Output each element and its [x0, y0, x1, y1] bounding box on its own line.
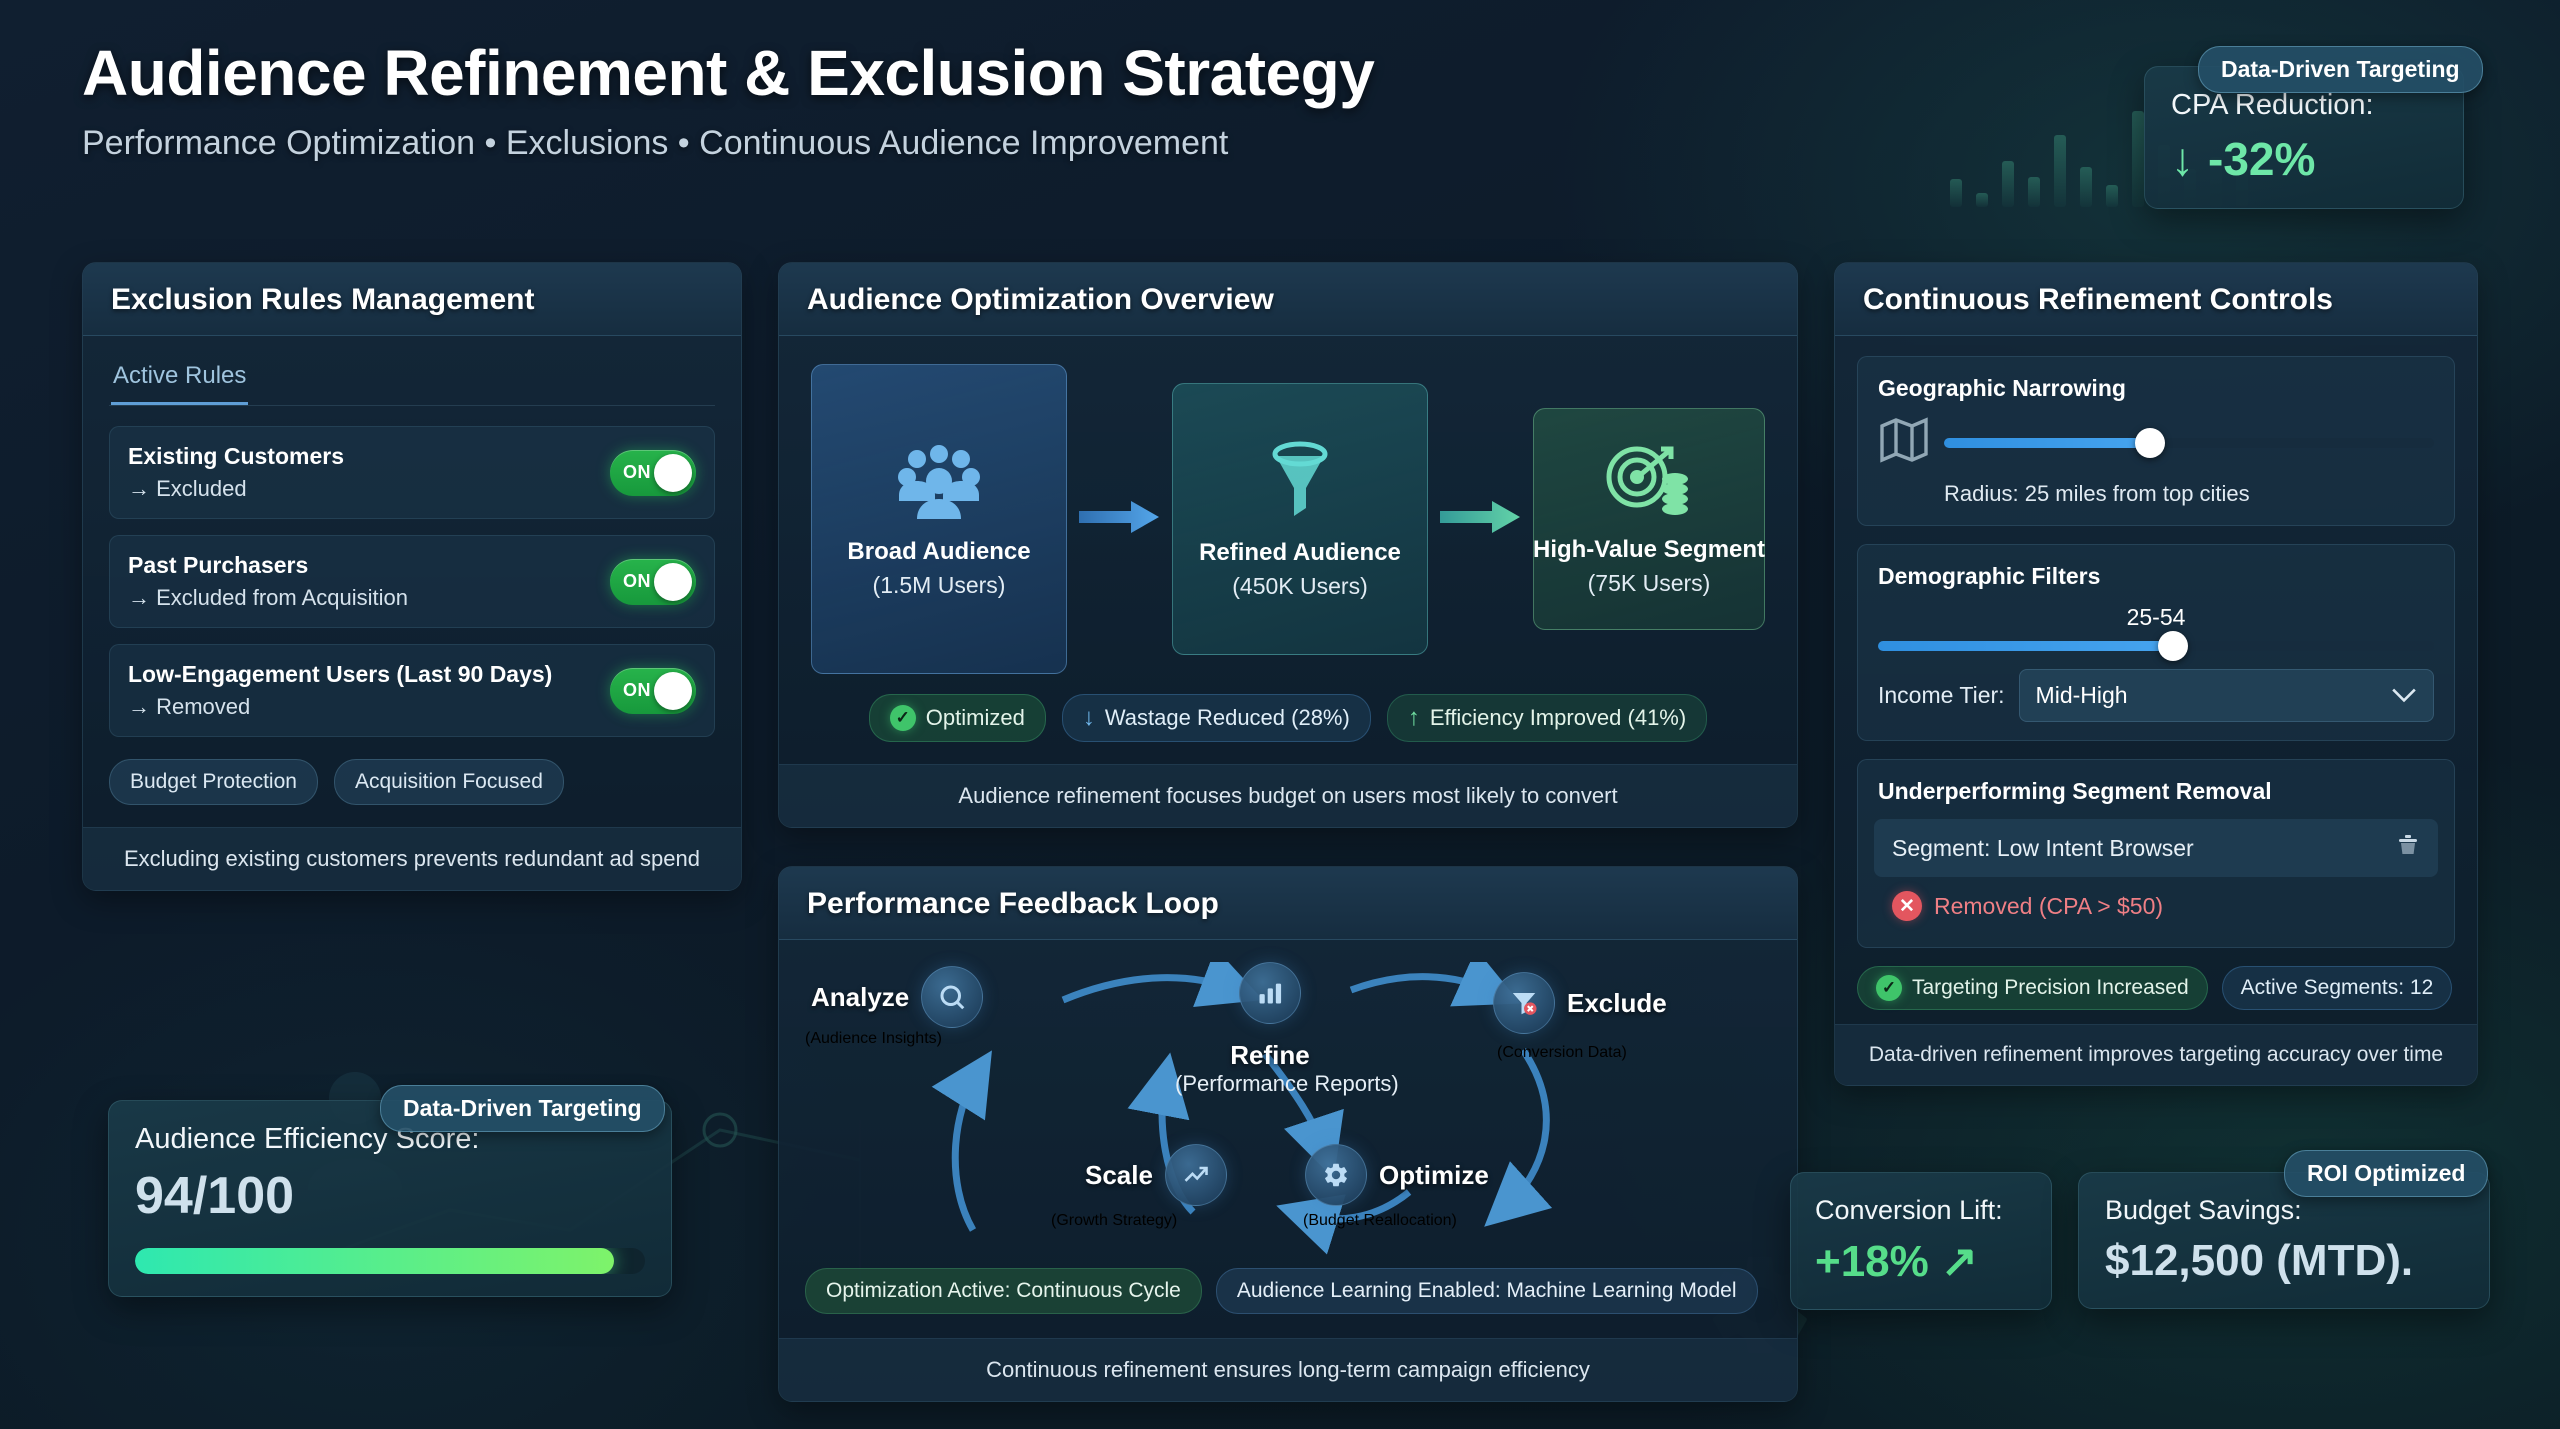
flow-stage-broad-audience[interactable]: Broad Audience (1.5M Users) — [811, 364, 1067, 674]
demographic-slider[interactable] — [1878, 641, 2434, 651]
chip-targeting-precision[interactable]: ✓ Targeting Precision Increased — [1857, 966, 2208, 1010]
audience-optimization-panel: Audience Optimization Overview — [778, 262, 1798, 828]
progress-fill — [135, 1248, 614, 1274]
controls-chip-row: ✓ Targeting Precision Increased Active S… — [1857, 966, 2455, 1010]
geographic-title: Geographic Narrowing — [1878, 375, 2434, 402]
tab-active-rules[interactable]: Active Rules — [111, 358, 248, 405]
page-title: Audience Refinement & Exclusion Strategy — [82, 36, 1374, 110]
geographic-narrowing-card: Geographic Narrowing Radius: 25 miles fr… — [1857, 356, 2455, 526]
rule-name: Low-Engagement Users (Last 90 Days) — [128, 661, 552, 688]
stat-chip-label: Optimized — [926, 705, 1025, 731]
chip-budget-protection[interactable]: Budget Protection — [109, 759, 318, 805]
arrow-up-icon: ↑ — [1408, 704, 1420, 732]
rule-row[interactable]: Low-Engagement Users (Last 90 Days) → Re… — [109, 644, 715, 737]
demographic-title: Demographic Filters — [1878, 563, 2434, 590]
segment-row[interactable]: Segment: Low Intent Browser — [1874, 819, 2438, 877]
exclusion-panel-header: Exclusion Rules Management — [83, 263, 741, 336]
trend-up-icon — [1165, 1144, 1227, 1206]
geographic-radius-label: Radius: 25 miles from top cities — [1944, 481, 2434, 507]
segment-label: Segment: Low Intent Browser — [1892, 835, 2194, 862]
rule-toggle-label: ON — [623, 680, 651, 701]
controls-panel-header: Continuous Refinement Controls — [1835, 263, 2477, 336]
stat-chip-label: Efficiency Improved (41%) — [1430, 705, 1686, 731]
toggle-knob — [654, 672, 692, 710]
node-sub: (Audience Insights) — [805, 1030, 942, 1048]
rule-toggle[interactable]: ON — [610, 450, 696, 496]
conversion-lift-value: +18% ↗ — [1815, 1236, 2027, 1287]
flow-stage-high-value-segment[interactable]: High-Value Segment (75K Users) — [1533, 408, 1765, 630]
stage-name: Refined Audience — [1199, 539, 1401, 567]
stage-count: (75K Users) — [1588, 570, 1711, 597]
flow-arrow-1-icon — [1073, 497, 1167, 542]
stat-chip-optimized[interactable]: ✓ Optimized — [869, 694, 1046, 742]
node-name: Scale — [1085, 1160, 1153, 1191]
page-subtitle: Performance Optimization • Exclusions • … — [82, 124, 1374, 163]
target-coins-icon — [1603, 443, 1695, 522]
loop-chip-row: Optimization Active: Continuous Cycle Au… — [805, 1264, 1771, 1316]
rule-row[interactable]: Existing Customers → Excluded ON — [109, 426, 715, 519]
audience-flow-diagram: Broad Audience (1.5M Users) — [805, 358, 1771, 684]
cpa-reduction-value: -32% — [2208, 132, 2315, 186]
flow-stage-refined-audience[interactable]: Refined Audience (450K Users) — [1172, 383, 1428, 655]
map-icon — [1878, 416, 1930, 469]
rule-toggle-label: ON — [623, 462, 651, 483]
income-tier-value: Mid-High — [2036, 682, 2128, 709]
stage-name: High-Value Segment — [1533, 536, 1765, 564]
page-header: Audience Refinement & Exclusion Strategy… — [82, 36, 1374, 163]
rule-name: Existing Customers — [128, 443, 344, 470]
loop-node-refine[interactable] — [1239, 962, 1301, 1024]
income-tier-select[interactable]: Mid-High — [2019, 669, 2434, 722]
toggle-knob — [654, 454, 692, 492]
loop-node-optimize[interactable]: Optimize — [1305, 1144, 1489, 1206]
performance-feedback-loop-panel: Performance Feedback Loop — [778, 866, 1798, 1402]
stage-count: (1.5M Users) — [873, 572, 1006, 599]
feedback-loop-diagram: Analyze (Audience Insights) — [805, 962, 1771, 1264]
efficiency-value: 94/100 — [135, 1166, 645, 1226]
x-circle-icon: ✕ — [1892, 891, 1922, 921]
node-sub: (Growth Strategy) — [1051, 1212, 1177, 1230]
trash-icon[interactable] — [2396, 833, 2420, 863]
rule-status: → Removed — [128, 694, 552, 720]
demographic-age-value: 25-54 — [1878, 604, 2434, 631]
segment-removed-label: Removed (CPA > $50) — [1934, 893, 2163, 920]
chip-optimization-active[interactable]: Optimization Active: Continuous Cycle — [805, 1268, 1202, 1314]
slider-knob[interactable] — [2158, 631, 2188, 661]
chip-audience-learning[interactable]: Audience Learning Enabled: Machine Learn… — [1216, 1268, 1758, 1314]
people-group-icon — [891, 441, 987, 524]
funnel-icon — [1263, 440, 1337, 525]
loop-node-scale[interactable]: Scale — [1085, 1144, 1227, 1206]
efficiency-progress-bar — [135, 1248, 645, 1274]
cpa-pill-badge: Data-Driven Targeting — [2198, 46, 2483, 93]
exclusion-tabbar: Active Rules — [109, 358, 715, 406]
loop-node-refine-label: Refine (Performance Reports) — [1175, 1040, 1365, 1097]
arrow-down-icon: ↓ — [2171, 132, 2194, 186]
rule-name: Past Purchasers — [128, 552, 408, 579]
refinement-controls-panel: Continuous Refinement Controls Geographi… — [1834, 262, 2478, 1086]
chevron-down-icon — [2391, 682, 2417, 709]
chip-active-segments[interactable]: Active Segments: 12 — [2222, 966, 2453, 1010]
slider-fill — [1878, 641, 2173, 651]
check-circle-icon: ✓ — [1876, 975, 1902, 1001]
rule-status: → Excluded — [128, 476, 344, 502]
segment-removal-card: Underperforming Segment Removal Segment:… — [1857, 759, 2455, 948]
funnel-x-icon — [1493, 972, 1555, 1034]
geographic-slider[interactable] — [1944, 438, 2434, 448]
segment-removal-title: Underperforming Segment Removal — [1874, 778, 2438, 805]
budget-savings-label: Budget Savings: — [2105, 1195, 2463, 1226]
flow-arrow-2-icon — [1434, 497, 1528, 542]
rule-toggle[interactable]: ON — [610, 559, 696, 605]
overview-stat-chip-row: ✓ Optimized ↓ Wastage Reduced (28%) ↑ Ef… — [805, 694, 1771, 742]
node-name: Refine — [1175, 1040, 1365, 1071]
gear-icon — [1305, 1144, 1367, 1206]
segment-removed-status: ✕ Removed (CPA > $50) — [1874, 877, 2438, 935]
loop-panel-footer: Continuous refinement ensures long-term … — [779, 1338, 1797, 1401]
check-circle-icon: ✓ — [890, 705, 916, 731]
toggle-knob — [654, 563, 692, 601]
exclusion-panel-body: Active Rules Existing Customers → Exclud… — [83, 336, 741, 827]
loop-panel-body: Analyze (Audience Insights) — [779, 940, 1797, 1338]
overview-panel-title: Audience Optimization Overview — [807, 283, 1769, 317]
loop-node-analyze[interactable]: Analyze — [811, 966, 983, 1028]
node-name: Exclude — [1567, 988, 1667, 1019]
node-sub: (Performance Reports) — [1175, 1071, 1365, 1097]
conversion-lift-label: Conversion Lift: — [1815, 1195, 2027, 1226]
conversion-lift-card: Conversion Lift: +18% ↗ — [1790, 1172, 2052, 1310]
controls-panel-body: Geographic Narrowing Radius: 25 miles fr… — [1835, 336, 2477, 1024]
search-icon — [921, 966, 983, 1028]
efficiency-pill-badge: Data-Driven Targeting — [380, 1085, 665, 1132]
stat-chip-efficiency-improved[interactable]: ↑ Efficiency Improved (41%) — [1387, 694, 1707, 742]
node-sub: (Conversion Data) — [1497, 1044, 1627, 1062]
chip-label: Active Segments: 12 — [2241, 976, 2434, 1000]
rule-status: → Excluded from Acquisition — [128, 585, 408, 611]
rule-row[interactable]: Past Purchasers → Excluded from Acquisit… — [109, 535, 715, 628]
dashboard-root: Audience Refinement & Exclusion Strategy… — [0, 0, 2560, 1429]
budget-savings-value: $12,500 (MTD). — [2105, 1236, 2463, 1286]
cpa-reduction-label: CPA Reduction: — [2171, 89, 2437, 122]
stage-name: Broad Audience — [847, 538, 1030, 566]
exclusion-panel-footer: Excluding existing customers prevents re… — [83, 827, 741, 890]
demographic-filters-card: Demographic Filters 25-54 Income Tier: M… — [1857, 544, 2455, 741]
rule-toggle-label: ON — [623, 571, 651, 592]
exclusion-panel-title: Exclusion Rules Management — [111, 283, 713, 317]
slider-fill — [1944, 438, 2150, 448]
overview-panel-body: Broad Audience (1.5M Users) — [779, 336, 1797, 764]
loop-node-exclude[interactable]: Exclude — [1493, 972, 1667, 1034]
overview-panel-header: Audience Optimization Overview — [779, 263, 1797, 336]
exclusion-chip-row: Budget Protection Acquisition Focused — [109, 759, 715, 805]
roi-pill-badge: ROI Optimized — [2284, 1150, 2488, 1197]
income-tier-label: Income Tier: — [1878, 682, 2005, 709]
controls-panel-footer: Data-driven refinement improves targetin… — [1835, 1024, 2477, 1085]
loop-panel-title: Performance Feedback Loop — [807, 887, 1769, 921]
node-sub: (Budget Reallocation) — [1303, 1212, 1457, 1230]
stat-chip-wastage-reduced[interactable]: ↓ Wastage Reduced (28%) — [1062, 694, 1371, 742]
node-name: Analyze — [811, 982, 909, 1013]
loop-panel-header: Performance Feedback Loop — [779, 867, 1797, 940]
chip-acquisition-focused[interactable]: Acquisition Focused — [334, 759, 564, 805]
controls-panel-title: Continuous Refinement Controls — [1863, 283, 2449, 317]
node-name: Optimize — [1379, 1160, 1489, 1191]
stat-chip-label: Wastage Reduced (28%) — [1105, 705, 1350, 731]
exclusion-rules-panel: Exclusion Rules Management Active Rules … — [82, 262, 742, 891]
chip-label: Targeting Precision Increased — [1912, 976, 2189, 1000]
bar-chart-icon — [1239, 962, 1301, 1024]
overview-panel-footer: Audience refinement focuses budget on us… — [779, 764, 1797, 827]
slider-knob[interactable] — [2135, 428, 2165, 458]
stage-count: (450K Users) — [1232, 573, 1367, 600]
arrow-down-icon: ↓ — [1083, 704, 1095, 732]
rule-toggle[interactable]: ON — [610, 668, 696, 714]
